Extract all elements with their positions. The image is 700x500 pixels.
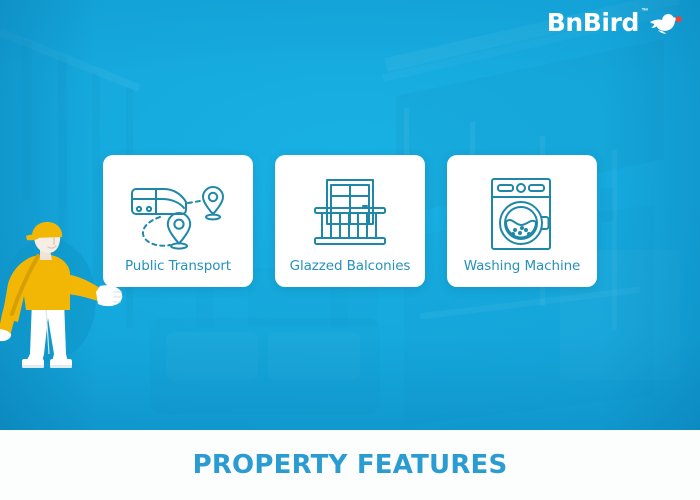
brand-name: BnBird ™ (547, 10, 639, 35)
brand-logo[interactable]: BnBird ™ (547, 10, 682, 35)
feature-card-glazzed-balconies[interactable]: Glazzed Balconies (275, 155, 425, 287)
feature-card-label: Glazzed Balconies (290, 258, 411, 287)
feature-card-washing-machine[interactable]: Washing Machine (447, 155, 597, 287)
balcony-railing-window-icon (275, 169, 425, 258)
feature-card-label: Public Transport (125, 258, 231, 287)
bird-icon (648, 11, 682, 35)
illustrated-person-waving (0, 222, 126, 387)
feature-card-label: Washing Machine (464, 258, 581, 287)
feature-card-list: Public Transport (103, 155, 597, 287)
trademark-symbol: ™ (641, 8, 648, 15)
slide-root: BnBird ™ (0, 0, 700, 500)
brand-name-text: BnBird (547, 8, 639, 37)
page-title: PROPERTY FEATURES (0, 450, 700, 480)
footer-band: PROPERTY FEATURES (0, 430, 700, 500)
washing-machine-icon (447, 169, 597, 258)
